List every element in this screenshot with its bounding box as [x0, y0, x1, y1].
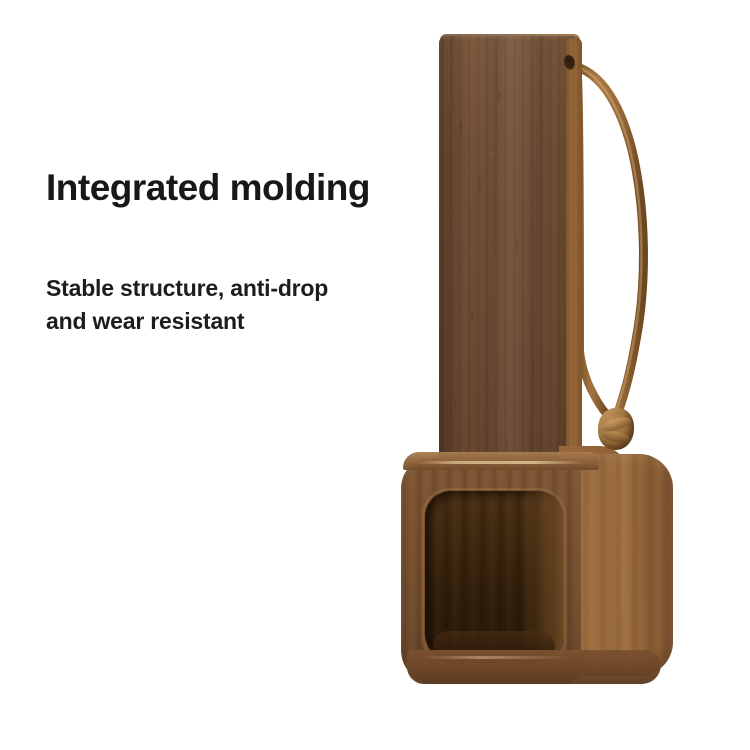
- product-image: [0, 0, 750, 750]
- product-feature-slide: Integrated molding Stable structure, ant…: [0, 0, 750, 750]
- handle-front-face: [439, 36, 579, 468]
- scoop-head: [401, 452, 673, 684]
- cord-inner-strand: [578, 78, 608, 416]
- scoop-cavity: [425, 491, 563, 663]
- handle-grain-flecks: [439, 36, 579, 468]
- handle-right-face: [566, 38, 582, 466]
- cord-knot: [598, 408, 634, 452]
- head-bottom-highlight: [421, 656, 571, 659]
- head-top-highlight: [415, 461, 585, 464]
- handle-side-grain: [566, 38, 582, 466]
